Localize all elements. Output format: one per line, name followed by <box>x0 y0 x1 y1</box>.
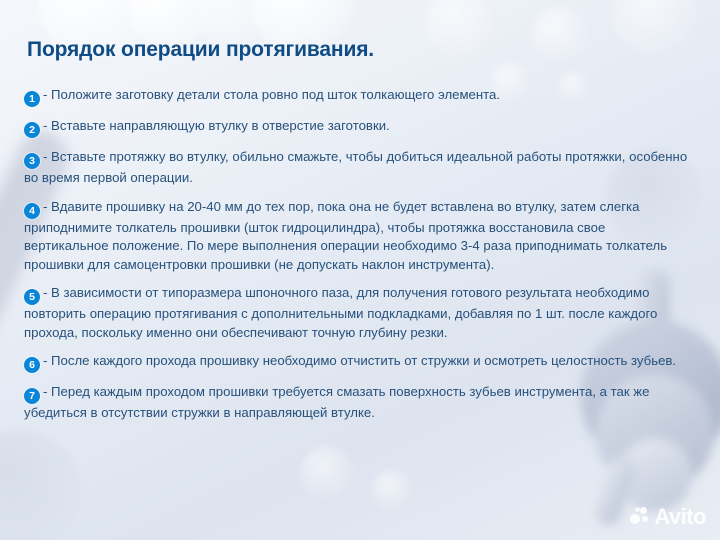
step-number-badge: 7 <box>24 388 40 404</box>
step-number-badge: 5 <box>24 289 40 305</box>
step-text: - Положите заготовку детали стола ровно … <box>43 87 500 102</box>
step-number-badge: 4 <box>24 203 40 219</box>
list-item: 5- В зависимости от типоразмера шпоночно… <box>24 284 692 342</box>
step-text: - Вставьте направляющую втулку в отверст… <box>43 118 390 133</box>
list-item: 4- Вдавите прошивку на 20-40 мм до тех п… <box>24 198 692 275</box>
step-text: - Вставьте протяжку во втулку, обильно с… <box>24 149 687 185</box>
list-item: 6- После каждого прохода прошивку необхо… <box>24 352 692 373</box>
avito-watermark: Avito <box>630 506 706 528</box>
step-number-badge: 6 <box>24 357 40 373</box>
avito-dots-icon <box>630 507 650 527</box>
step-text: - Перед каждым проходом прошивки требует… <box>24 384 649 420</box>
step-text: - В зависимости от типоразмера шпоночног… <box>24 285 657 340</box>
avito-wordmark: Avito <box>654 506 706 528</box>
list-item: 1- Положите заготовку детали стола ровно… <box>24 86 692 107</box>
step-number-badge: 1 <box>24 91 40 107</box>
list-item: 3- Вставьте протяжку во втулку, обильно … <box>24 148 692 188</box>
step-text: - Вдавите прошивку на 20-40 мм до тех по… <box>24 199 667 272</box>
list-item: 7- Перед каждым проходом прошивки требуе… <box>24 383 692 423</box>
steps-list: 1- Положите заготовку детали стола ровно… <box>24 86 692 433</box>
step-text: - После каждого прохода прошивку необход… <box>43 353 676 368</box>
page-title: Порядок операции протягивания. <box>27 38 374 62</box>
list-item: 2- Вставьте направляющую втулку в отверс… <box>24 117 692 138</box>
slide-canvas: Порядок операции протягивания. 1- Положи… <box>0 0 720 540</box>
step-number-badge: 3 <box>24 153 40 169</box>
slide-content: Порядок операции протягивания. 1- Положи… <box>0 0 720 540</box>
step-number-badge: 2 <box>24 122 40 138</box>
